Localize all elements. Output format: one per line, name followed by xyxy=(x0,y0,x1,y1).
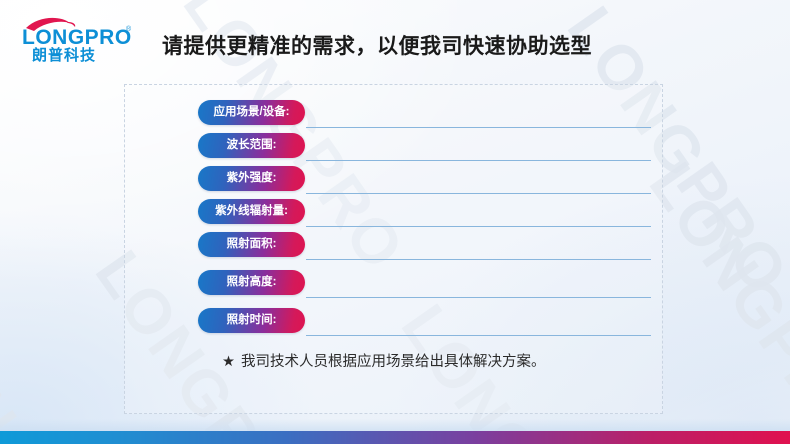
page-title: 请提供更精准的需求，以便我司快速协助选型 xyxy=(162,30,592,60)
bottom-accent-bar xyxy=(0,431,790,444)
requirements-form: 应用场景/设备: 波长范围: 紫外强度: 紫外线辐射量: 照射面积: 照射高度:… xyxy=(198,100,618,341)
logo-artwork: LONGPRO ® 朗普科技 xyxy=(18,14,138,62)
form-row: 紫外强度: xyxy=(198,166,618,199)
registered-mark-icon: ® xyxy=(126,25,132,33)
logo-chinese-text: 朗普科技 xyxy=(32,46,96,62)
field-input-uv-radiation-dose[interactable] xyxy=(306,226,651,227)
footnote-text: 我司技术人员根据应用场景给出具体解决方案。 xyxy=(241,354,546,370)
form-row: 照射面积: xyxy=(198,232,618,270)
logo-latin-text: LONGPRO xyxy=(22,26,132,49)
company-logo: LONGPRO ® 朗普科技 xyxy=(18,14,138,62)
form-row: 紫外线辐射量: xyxy=(198,199,618,232)
slide-canvas: LONGPRO LONGPRO LONGPRO LONGPRO LONGPRO … xyxy=(0,0,790,444)
field-label-uv-radiation-dose: 紫外线辐射量: xyxy=(198,199,305,224)
field-input-irradiation-area[interactable] xyxy=(306,259,651,260)
field-label-uv-intensity: 紫外强度: xyxy=(198,166,305,191)
field-input-irradiation-time[interactable] xyxy=(306,335,651,336)
form-row: 波长范围: xyxy=(198,133,618,166)
field-label-irradiation-time: 照射时间: xyxy=(198,308,305,333)
form-row: 照射时间: xyxy=(198,308,618,341)
field-label-irradiation-height: 照射高度: xyxy=(198,270,305,295)
field-input-uv-intensity[interactable] xyxy=(306,193,651,194)
bottom-bar-fade xyxy=(0,419,790,431)
field-label-irradiation-area: 照射面积: xyxy=(198,232,305,257)
field-input-wavelength-range[interactable] xyxy=(306,160,651,161)
form-row: 应用场景/设备: xyxy=(198,100,618,133)
field-label-application-scene: 应用场景/设备: xyxy=(198,100,305,125)
field-input-application-scene[interactable] xyxy=(306,127,651,128)
star-icon: ★ xyxy=(222,354,235,370)
field-input-irradiation-height[interactable] xyxy=(306,297,651,298)
form-row: 照射高度: xyxy=(198,270,618,308)
field-label-wavelength-range: 波长范围: xyxy=(198,133,305,158)
footnote: ★我司技术人员根据应用场景给出具体解决方案。 xyxy=(222,350,546,371)
